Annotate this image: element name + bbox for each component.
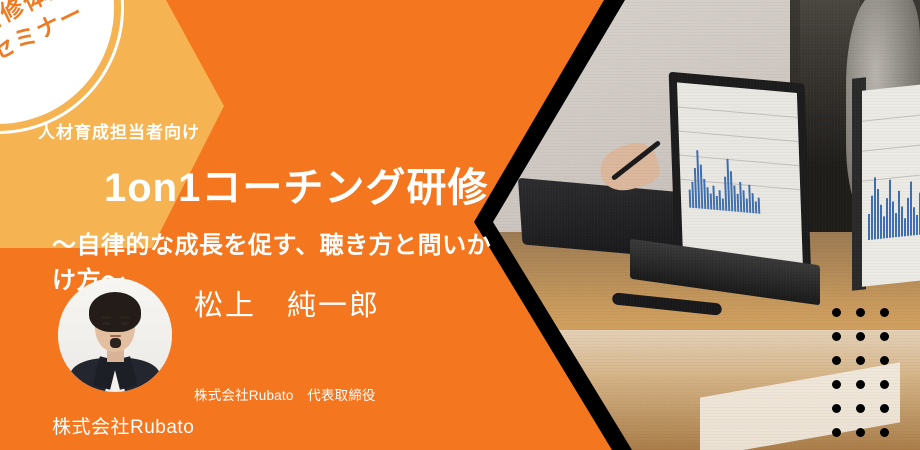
dot-grid-decoration bbox=[832, 308, 904, 450]
eyebrow-text: 人材育成担当者向け bbox=[38, 118, 500, 143]
headline-block: 人材育成担当者向け 1on1コーチング研修 〜自律的な成長を促す、聴き方と問いか… bbox=[0, 118, 500, 295]
page-title: 1on1コーチング研修 bbox=[104, 155, 500, 213]
speaker-credentials: 株式会社Rubato 代表取締役 オンラインキャリアコーチング me:Rise運… bbox=[194, 338, 530, 450]
speaker-credential-line-1: 株式会社Rubato 代表取締役 bbox=[194, 384, 530, 407]
seminar-banner: 研修体験 セミナー 人材育成担当者向け 1on1コーチング研修 〜自律的な成長を… bbox=[0, 0, 920, 450]
avatar bbox=[58, 278, 172, 392]
organization-name: 株式会社Rubato bbox=[52, 412, 194, 439]
speaker-info: 松上 純一郎 株式会社Rubato 代表取締役 オンラインキャリアコーチング m… bbox=[194, 278, 530, 450]
speaker-name: 松上 純一郎 bbox=[194, 282, 530, 324]
